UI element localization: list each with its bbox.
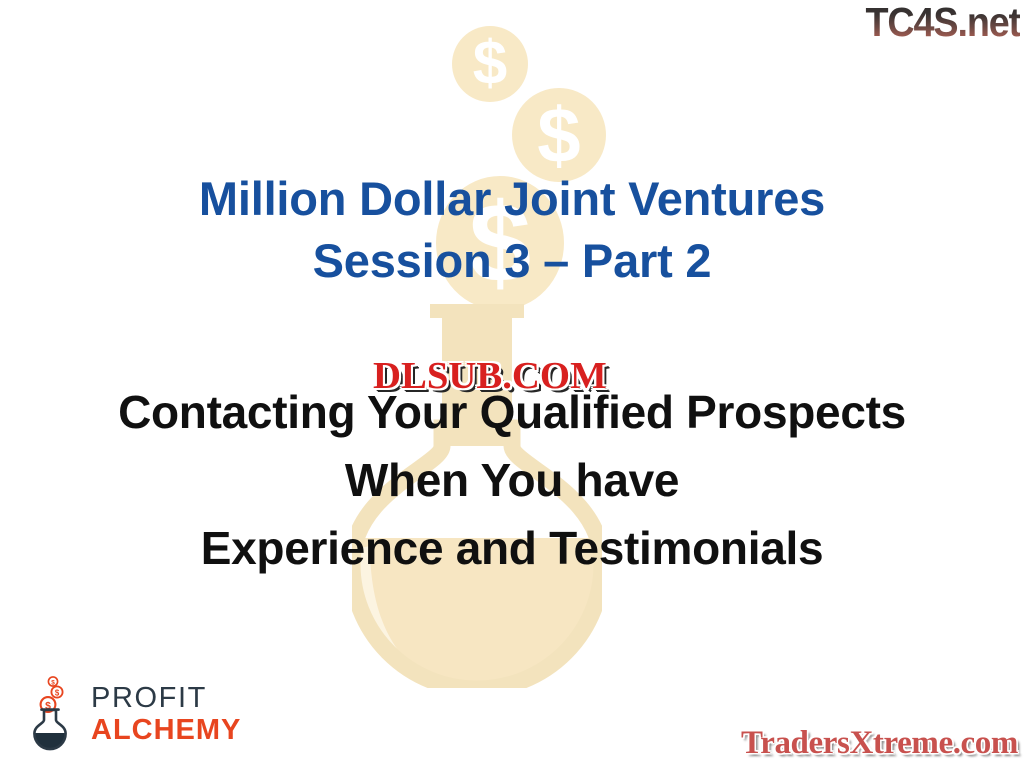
slide-title-line-1: Million Dollar Joint Ventures xyxy=(0,168,1024,230)
profit-alchemy-logo: $ $ $ PROFIT ALCHEMY xyxy=(26,676,241,752)
watermark-tc4s: TC4S.net xyxy=(865,2,1020,43)
svg-text:$: $ xyxy=(51,680,55,687)
watermark-dlsub: DLSUB.COM xyxy=(373,357,607,395)
watermark-tradersxtreme: TradersXtreme.com xyxy=(741,727,1018,760)
slide-title: Million Dollar Joint Ventures Session 3 … xyxy=(0,168,1024,292)
slide-subtitle-line-3: Experience and Testimonials xyxy=(0,514,1024,582)
slide-canvas: $ $ $ Million Dollar Joi xyxy=(0,0,1024,768)
slide-title-line-2: Session 3 – Part 2 xyxy=(0,230,1024,292)
logo-wordmark: PROFIT ALCHEMY xyxy=(91,684,241,745)
logo-word-alchemy: ALCHEMY xyxy=(91,716,241,745)
slide-subtitle-line-2: When You have xyxy=(0,446,1024,514)
flask-icon: $ $ $ xyxy=(26,676,82,752)
logo-word-profit: PROFIT xyxy=(91,684,241,713)
slide-subtitle: Contacting Your Qualified Prospects When… xyxy=(0,378,1024,582)
svg-text:$: $ xyxy=(55,689,60,698)
coin-small-icon: $ xyxy=(452,26,528,102)
